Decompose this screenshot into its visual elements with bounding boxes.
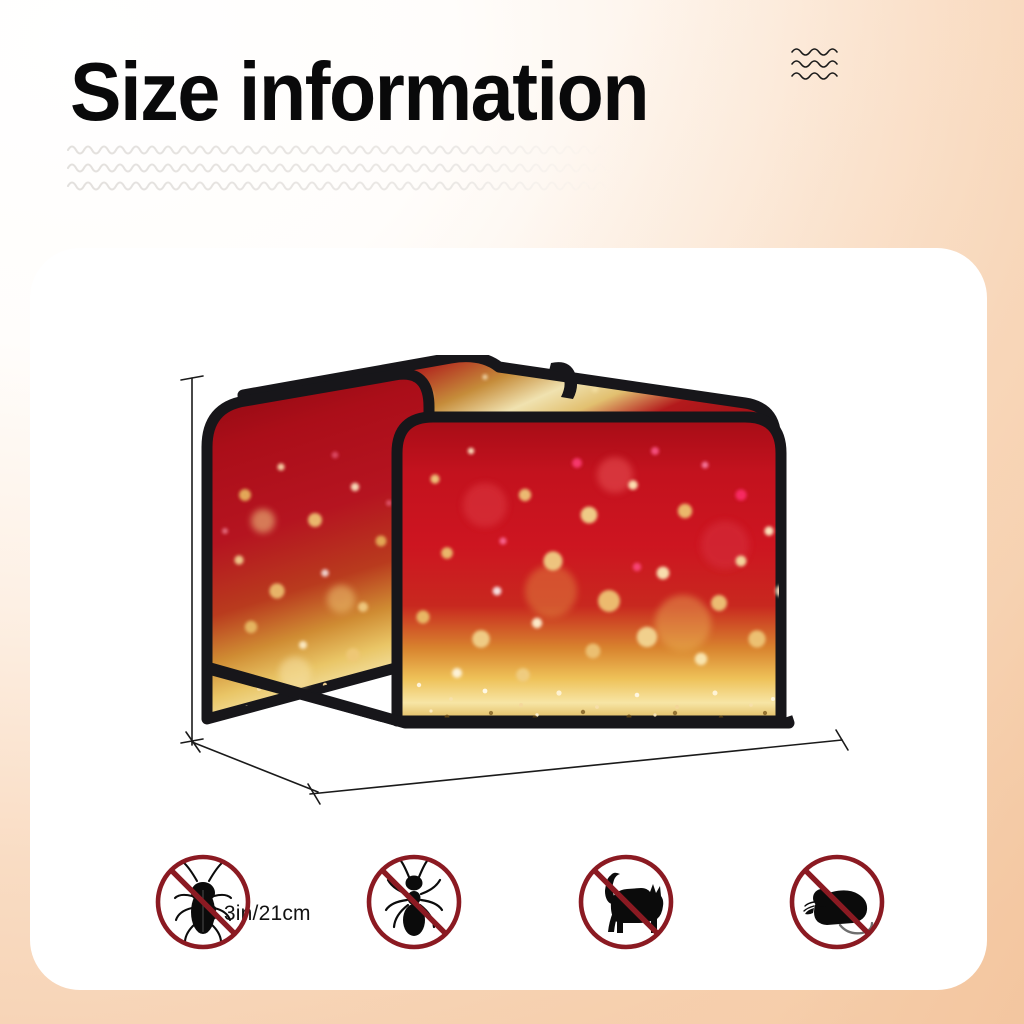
- size-information-graphic: Size information: [0, 0, 1024, 1024]
- dimension-annotations: 8.3in/21cm 10.6in/27cm 12.4in/31.5cm: [150, 360, 870, 820]
- wave-decoration-corner-icon: [790, 44, 854, 84]
- no-cockroach-icon: [150, 850, 256, 954]
- no-ant-icon: [361, 850, 467, 954]
- pest-proof-icon-row: [150, 848, 890, 956]
- dimension-lines: [150, 360, 870, 820]
- no-cat-icon: [573, 850, 679, 954]
- no-mouse-icon: [784, 850, 890, 954]
- page-title: Size information: [70, 50, 648, 133]
- wave-decoration-under-title-icon: [66, 140, 626, 196]
